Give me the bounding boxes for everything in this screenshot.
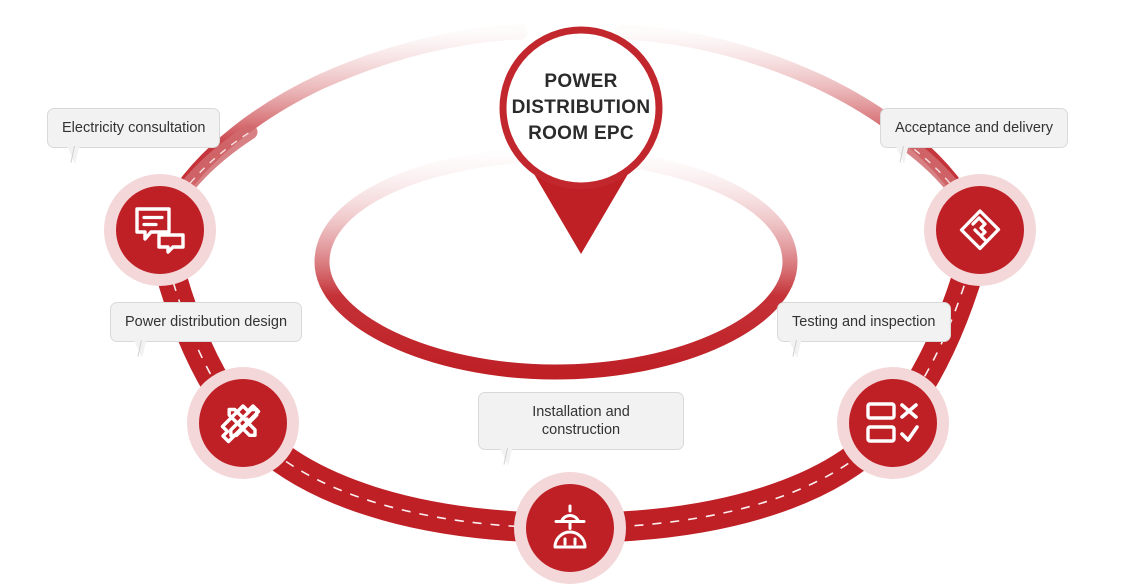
label-testing-inspection-text: Testing and inspection bbox=[792, 314, 936, 330]
label-acceptance-delivery[interactable]: Acceptance and delivery bbox=[880, 108, 1068, 148]
callout-tail-icon bbox=[788, 340, 802, 358]
center-pin-line-2: DISTRIBUTION bbox=[512, 95, 651, 121]
label-power-distribution-design-text: Power distribution design bbox=[125, 314, 287, 330]
worker-hardhat-icon bbox=[544, 502, 596, 554]
center-pin: POWER DISTRIBUTION ROOM EPC bbox=[495, 22, 667, 262]
node-acceptance-delivery-circle bbox=[936, 186, 1024, 274]
node-installation-construction-circle bbox=[526, 484, 614, 572]
node-testing-inspection[interactable] bbox=[837, 367, 949, 479]
label-installation-construction-line-1: Installation and bbox=[493, 403, 669, 421]
checklist-icon bbox=[866, 401, 920, 445]
label-electricity-consultation[interactable]: Electricity consultation bbox=[47, 108, 220, 148]
node-electricity-consultation[interactable] bbox=[104, 174, 216, 286]
callout-tail-icon bbox=[66, 146, 80, 164]
callout-tail-icon bbox=[133, 340, 147, 358]
callout-tail-icon bbox=[499, 448, 513, 466]
callout-tail-icon bbox=[895, 146, 909, 164]
node-power-distribution-design-circle bbox=[199, 379, 287, 467]
chat-bubbles-icon bbox=[134, 206, 186, 254]
node-installation-construction[interactable] bbox=[514, 472, 626, 584]
center-pin-line-3: ROOM EPC bbox=[528, 121, 634, 147]
node-power-distribution-design[interactable] bbox=[187, 367, 299, 479]
label-acceptance-delivery-text: Acceptance and delivery bbox=[895, 120, 1053, 136]
label-testing-inspection[interactable]: Testing and inspection bbox=[777, 302, 951, 342]
diagram-canvas: POWER DISTRIBUTION ROOM EPC Electricity … bbox=[0, 0, 1139, 587]
label-installation-construction[interactable]: Installation and construction bbox=[478, 392, 684, 450]
center-pin-text: POWER DISTRIBUTION ROOM EPC bbox=[495, 22, 667, 194]
node-testing-inspection-circle bbox=[849, 379, 937, 467]
node-acceptance-delivery[interactable] bbox=[924, 174, 1036, 286]
label-electricity-consultation-text: Electricity consultation bbox=[62, 120, 205, 136]
node-electricity-consultation-circle bbox=[116, 186, 204, 274]
label-power-distribution-design[interactable]: Power distribution design bbox=[110, 302, 302, 342]
handshake-icon bbox=[954, 204, 1006, 256]
center-pin-line-1: POWER bbox=[544, 69, 617, 95]
label-installation-construction-line-2: construction bbox=[493, 421, 669, 439]
crossed-rulers-icon bbox=[217, 397, 269, 449]
